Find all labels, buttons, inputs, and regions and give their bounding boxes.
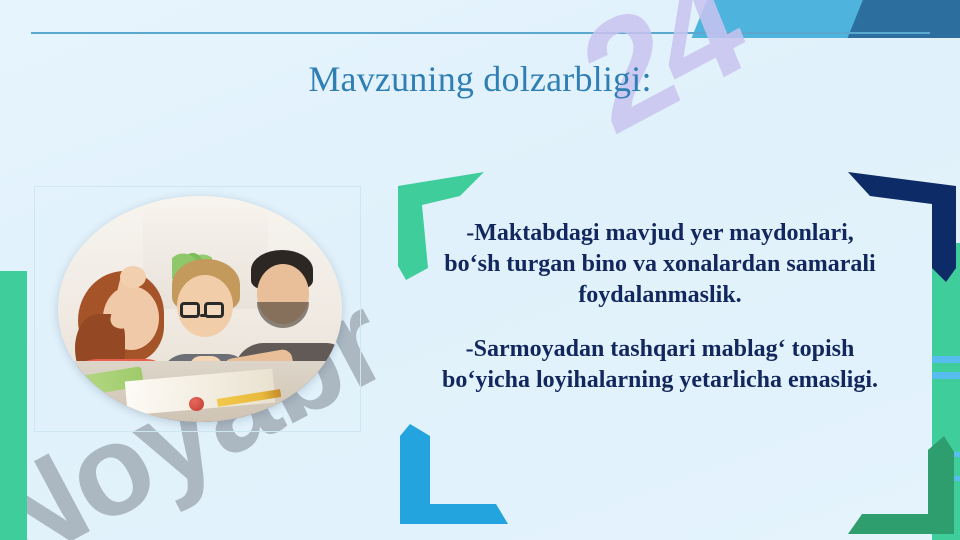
corner-bracket-bottom-left: [400, 424, 508, 528]
left-accent-bar: [0, 271, 27, 540]
bullet-paragraph-1: -Maktabdagi mavjud yer maydonlari, bo‘sh…: [438, 218, 882, 312]
bullet-paragraph-2: -Sarmoyadan tashqari mablag‘ topish bo‘y…: [438, 334, 882, 396]
header-divider-rule: [31, 32, 930, 34]
corner-bracket-bottom-right: [848, 436, 954, 536]
slide-body-text: -Maktabdagi mavjud yer maydonlari, bo‘sh…: [438, 218, 882, 396]
page-title: Mavzuning dolzarbligi:: [0, 58, 960, 100]
family-photo: [58, 196, 342, 422]
right-accent-band: [932, 372, 960, 379]
right-accent-band: [932, 356, 960, 363]
presentation-slide: 24 Noyabr: [0, 0, 960, 540]
